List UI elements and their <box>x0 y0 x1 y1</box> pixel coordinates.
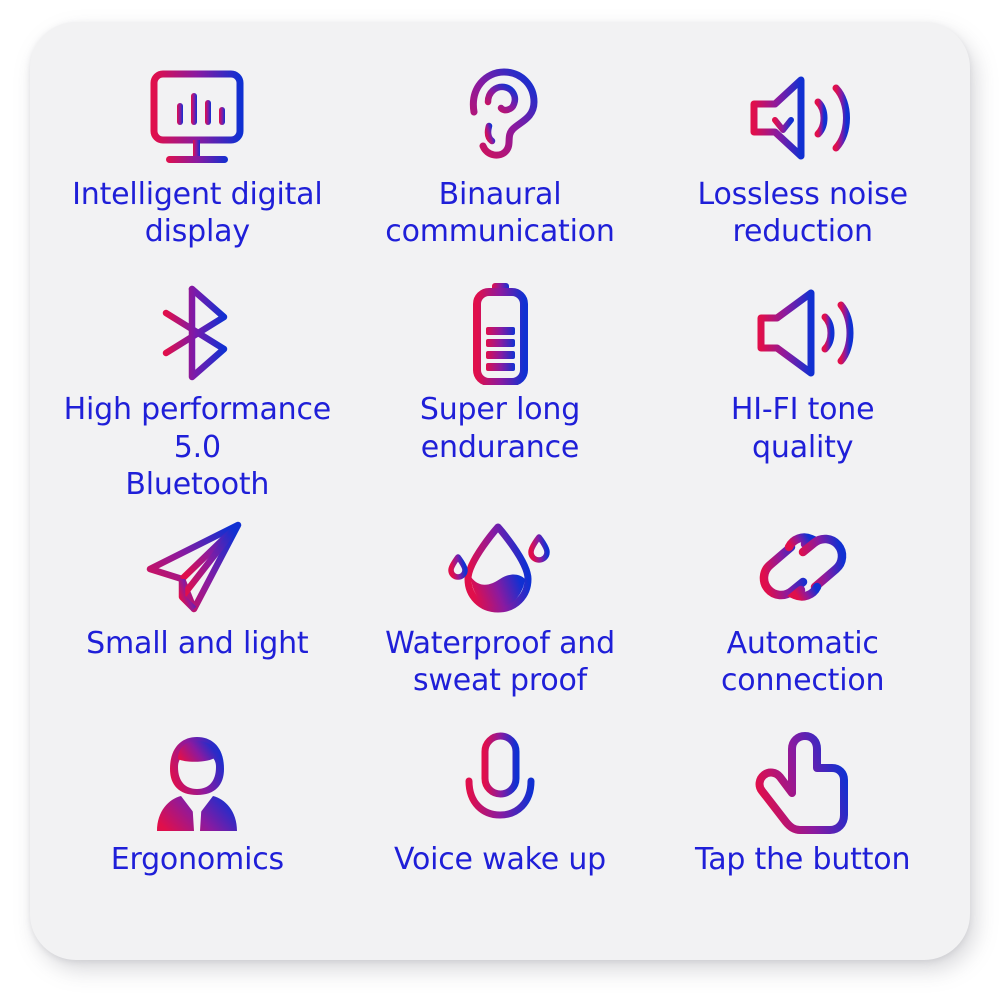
ear-icon <box>454 66 546 170</box>
feature-label: Waterproof and sweat proof <box>385 625 615 699</box>
feature-item-ergonomics: Ergonomics <box>46 719 349 934</box>
feature-item-automatic-connection: Automatic connection <box>651 503 954 718</box>
battery-full-icon <box>462 281 538 385</box>
feature-label: Voice wake up <box>394 841 606 878</box>
feature-label: Intelligent digital display <box>72 176 322 250</box>
feature-label: Lossless noise reduction <box>697 176 907 250</box>
feature-item-waterproof-sweat-proof: Waterproof and sweat proof <box>349 503 652 718</box>
feature-item-high-performance-bluetooth: High performance 5.0 Bluetooth <box>46 269 349 503</box>
feature-item-hifi-tone-quality: HI-FI tone quality <box>651 269 954 503</box>
bluetooth-icon <box>142 281 252 385</box>
microphone-icon <box>457 731 543 835</box>
feature-item-tap-the-button: Tap the button <box>651 719 954 934</box>
person-suit-icon <box>147 731 247 835</box>
feature-card: Intelligent digital display <box>30 22 970 960</box>
feature-label: Super long endurance <box>420 391 580 465</box>
feature-grid: Intelligent digital display <box>30 22 970 960</box>
infographic-stage: Intelligent digital display <box>0 0 1000 1000</box>
feature-item-intelligent-digital-display: Intelligent digital display <box>46 54 349 269</box>
feature-item-super-long-endurance: Super long endurance <box>349 269 652 503</box>
water-drop-icon <box>446 515 554 619</box>
speaker-wave-icon <box>749 281 857 385</box>
feature-label: Small and light <box>86 625 308 662</box>
feature-item-small-and-light: Small and light <box>46 503 349 718</box>
feature-item-lossless-noise-reduction: Lossless noise reduction <box>651 54 954 269</box>
feature-label: Binaural communication <box>385 176 614 250</box>
feature-label: Tap the button <box>695 841 910 878</box>
feature-label: High performance 5.0 Bluetooth <box>46 391 349 503</box>
feature-label: HI-FI tone quality <box>731 391 874 465</box>
feature-label: Automatic connection <box>721 625 884 699</box>
pointing-hand-icon <box>754 731 852 835</box>
monitor-chart-icon <box>141 66 253 170</box>
feature-label: Ergonomics <box>111 841 284 878</box>
chain-link-icon <box>745 515 861 619</box>
paper-plane-icon <box>142 515 252 619</box>
feature-item-binaural-communication: Binaural communication <box>349 54 652 269</box>
feature-item-voice-wake-up: Voice wake up <box>349 719 652 934</box>
speaker-noise-down-icon <box>744 66 862 170</box>
